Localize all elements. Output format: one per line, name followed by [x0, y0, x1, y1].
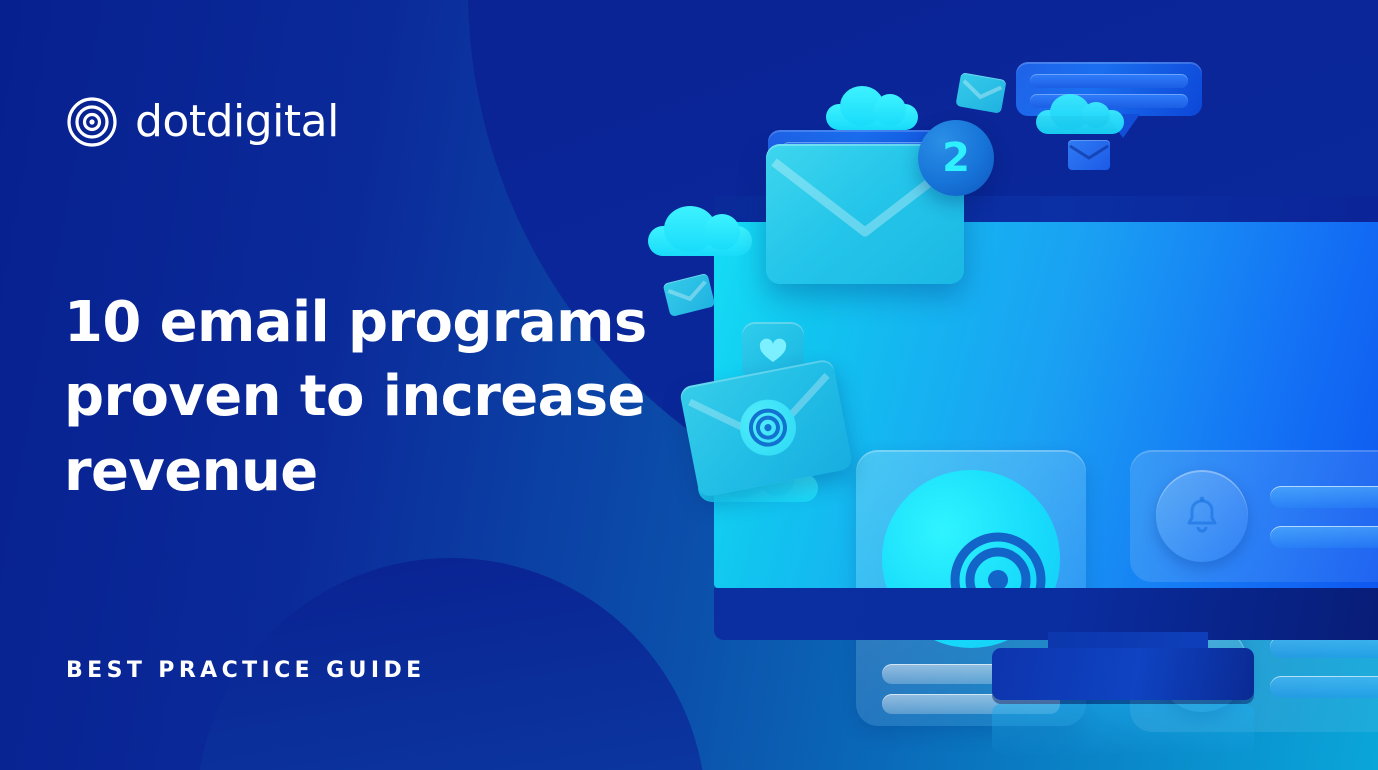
cloud-icon [1036, 110, 1124, 134]
row-text-line [1270, 486, 1378, 508]
envelope-small-icon [955, 72, 1006, 113]
row-text-line [1270, 526, 1378, 548]
cover-page: 2 [0, 0, 1378, 770]
envelope-icon [1068, 140, 1110, 170]
brand-name: dotdigital [135, 100, 339, 144]
hero-illustration: 2 [618, 0, 1378, 770]
monitor-base [992, 648, 1254, 700]
bullseye-rings-icon [745, 404, 792, 451]
bullseye-target-icon [66, 96, 118, 148]
heart-icon [758, 338, 788, 364]
bell-icon-circle [1156, 470, 1248, 562]
bubble-text-line [1030, 74, 1188, 88]
page-title: 10 email programs proven to increase rev… [64, 286, 664, 509]
envelope-flap-icon [1068, 140, 1110, 170]
envelope-small-icon [663, 273, 716, 317]
envelope-flap-icon [955, 72, 1006, 113]
dashboard-row-notification [1130, 450, 1378, 582]
monitor-bottom-bezel [714, 588, 1378, 640]
brand-logo: dotdigital [66, 96, 339, 148]
cloud-icon [648, 226, 752, 256]
row-text-line [1270, 676, 1378, 698]
notification-badge: 2 [918, 120, 994, 196]
cloud-icon [826, 104, 918, 130]
envelope-flap-icon [663, 273, 716, 317]
bell-icon [1180, 494, 1224, 538]
document-type-label: BEST PRACTICE GUIDE [66, 658, 426, 683]
chat-bubble-top [1016, 62, 1202, 116]
monitor-base-reflection [992, 704, 1254, 754]
